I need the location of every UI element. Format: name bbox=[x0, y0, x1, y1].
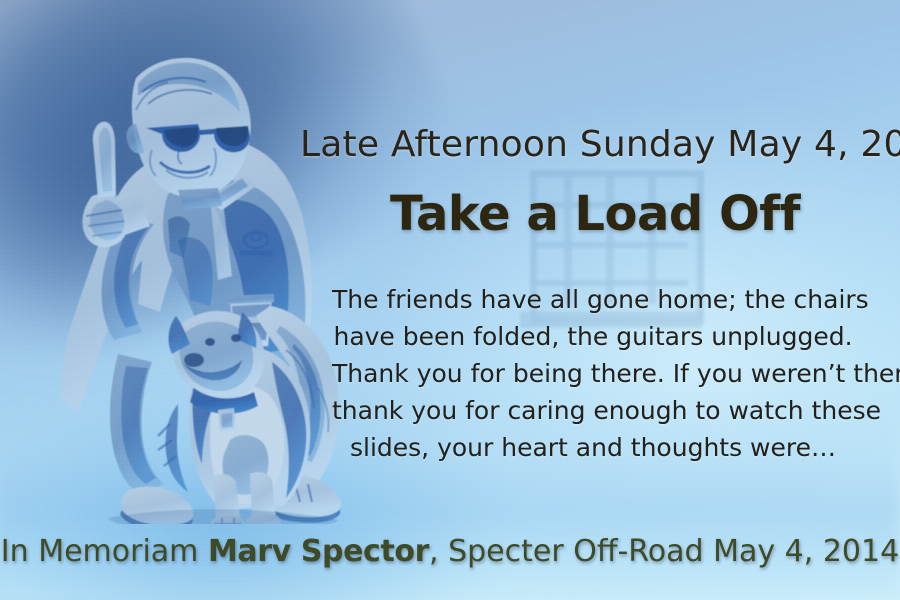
memoriam-name: Marv Spector bbox=[208, 534, 429, 569]
body-line: thank you for caring enough to watch the… bbox=[332, 392, 854, 429]
memorial-slide: Late Afternoon Sunday May 4, 2014 Take a… bbox=[0, 0, 900, 600]
memoriam-prefix: In Memoriam bbox=[1, 534, 208, 569]
body-line: Thank you for being there. If you weren’… bbox=[332, 355, 854, 392]
memoriam-suffix: , Specter Off-Road May 4, 2014 bbox=[429, 534, 899, 569]
slide-body-copy: The friends have all gone home; the chai… bbox=[332, 281, 854, 466]
memoriam-credit-line: In Memoriam Marv Spector, Specter Off-Ro… bbox=[0, 534, 900, 569]
body-line: have been folded, the guitars unplugged. bbox=[332, 318, 854, 355]
slide-headline: Late Afternoon Sunday May 4, 2014 bbox=[300, 124, 890, 165]
background-blob-left bbox=[0, 30, 270, 330]
slide-title: Take a Load Off bbox=[300, 186, 890, 242]
body-line: slides, your heart and thoughts were… bbox=[332, 429, 854, 466]
body-line: The friends have all gone home; the chai… bbox=[332, 281, 854, 318]
